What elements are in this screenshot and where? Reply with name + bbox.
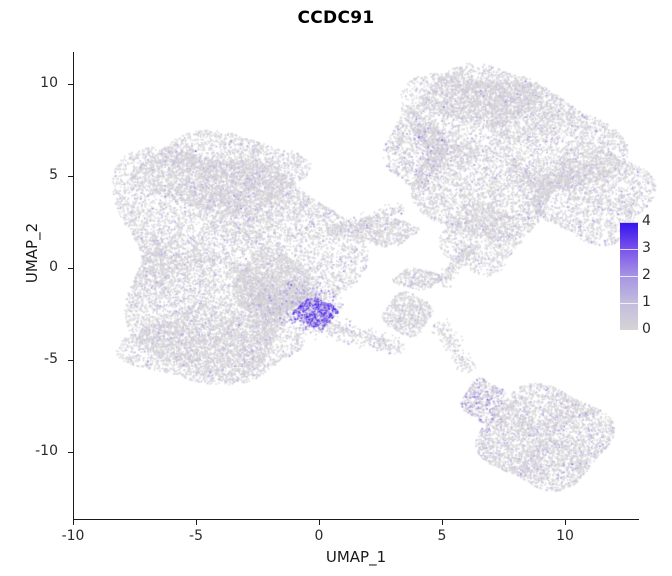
y-tick-label: -10 <box>0 443 58 459</box>
y-tick-mark <box>68 268 73 269</box>
x-tick-label: -10 <box>43 528 103 544</box>
x-tick-label: 10 <box>535 528 595 544</box>
expression-colorbar-legend: 43210 <box>612 210 672 346</box>
x-axis-line <box>73 519 639 520</box>
y-tick-mark <box>68 84 73 85</box>
x-tick-label: 0 <box>289 528 349 544</box>
x-tick-label: -5 <box>166 528 226 544</box>
colorbar-tick-label: 2 <box>642 267 651 283</box>
y-tick-mark <box>68 452 73 453</box>
y-tick-label: 10 <box>0 75 58 91</box>
x-tick-mark <box>196 520 197 525</box>
y-tick-label: 5 <box>0 167 58 183</box>
colorbar-tick-mark <box>620 222 638 223</box>
colorbar-tick-label: 3 <box>642 240 651 256</box>
colorbar-tick-label: 1 <box>642 294 651 310</box>
y-tick-mark <box>68 176 73 177</box>
colorbar-tick-mark <box>620 330 638 331</box>
y-tick-mark <box>68 360 73 361</box>
umap-scatter-plot <box>0 0 672 576</box>
colorbar-tick-label: 4 <box>642 213 651 229</box>
x-tick-mark <box>442 520 443 525</box>
x-tick-mark <box>565 520 566 525</box>
x-tick-mark <box>319 520 320 525</box>
x-axis-title: UMAP_1 <box>73 548 639 566</box>
x-tick-label: 5 <box>412 528 472 544</box>
x-tick-mark <box>73 520 74 525</box>
colorbar-tick-mark <box>620 303 638 304</box>
y-axis-line <box>73 52 74 520</box>
colorbar-tick-label: 0 <box>642 321 651 337</box>
y-tick-label: -5 <box>0 351 58 367</box>
colorbar-tick-mark <box>620 276 638 277</box>
colorbar-tick-mark <box>620 249 638 250</box>
feature-plot-root: CCDC91 -10-50510 1050-5-10 UMAP_1 UMAP_2… <box>0 0 672 576</box>
y-axis-title: UMAP_2 <box>23 193 41 313</box>
